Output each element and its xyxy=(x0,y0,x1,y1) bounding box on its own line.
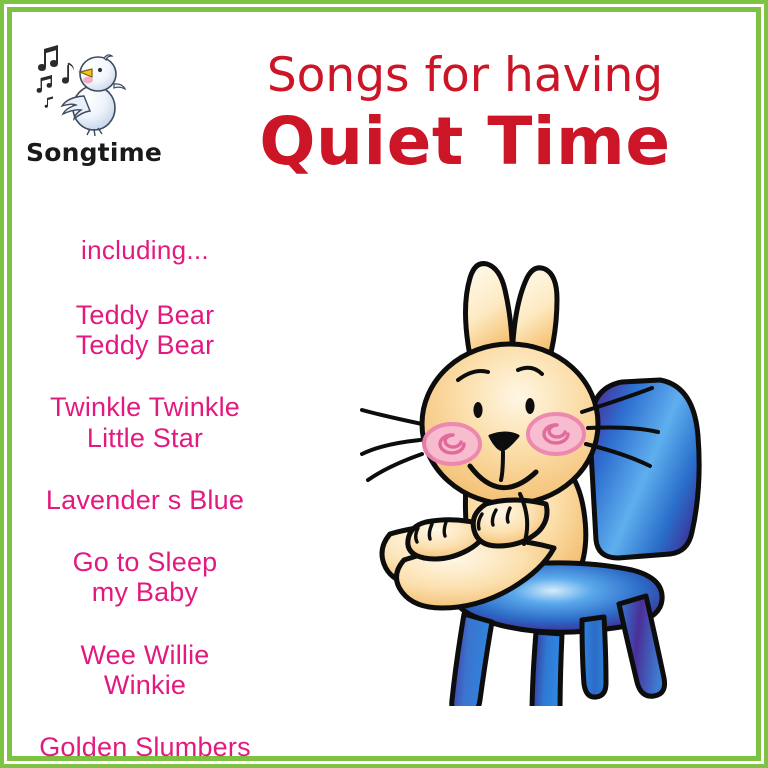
bunny-chair-art xyxy=(360,222,744,706)
bird-tail xyxy=(114,84,125,89)
singing-bird-icon xyxy=(22,22,162,142)
tracklist: including... Teddy Bear Teddy Bear Twink… xyxy=(14,235,276,762)
list-item: Go to Sleep my Baby xyxy=(14,547,276,607)
bunny-eye-left xyxy=(473,402,482,418)
title-line-1: Songs for having xyxy=(200,52,730,99)
bunny-on-chair-illustration xyxy=(360,222,744,706)
bunny-cheek-left xyxy=(424,424,480,464)
bird-eye xyxy=(98,68,102,72)
title-line-2: Quiet Time xyxy=(200,105,730,179)
list-item: Wee Willie Winkie xyxy=(14,640,276,700)
music-note-icon xyxy=(38,45,58,71)
bunny-cheek-right xyxy=(528,414,584,454)
songtime-logo: Songtime xyxy=(22,22,162,172)
chair-leg-2 xyxy=(532,632,562,706)
chair-leg-3 xyxy=(582,617,606,697)
whiskers-left xyxy=(362,410,422,480)
list-item: Lavender s Blue xyxy=(14,485,276,515)
bunny-mouth-line xyxy=(501,452,503,480)
music-note-icon xyxy=(45,96,53,107)
music-note-icon xyxy=(62,63,74,84)
chair-leg-1 xyxy=(452,614,492,706)
list-item: Golden Slumbers xyxy=(14,732,276,762)
chair-back xyxy=(590,380,699,558)
brand-name: Songtime xyxy=(26,138,162,167)
page-title: Songs for having Quiet Time xyxy=(200,52,730,179)
bird-cheek xyxy=(83,77,93,84)
tracklist-intro: including... xyxy=(14,235,276,266)
bunny-eye-right xyxy=(525,398,534,414)
album-cover: Songtime Songs for having Quiet Time inc… xyxy=(0,0,768,768)
music-note-icon xyxy=(37,75,52,93)
list-item: Twinkle Twinkle Little Star xyxy=(14,392,276,452)
list-item: Teddy Bear Teddy Bear xyxy=(14,300,276,360)
